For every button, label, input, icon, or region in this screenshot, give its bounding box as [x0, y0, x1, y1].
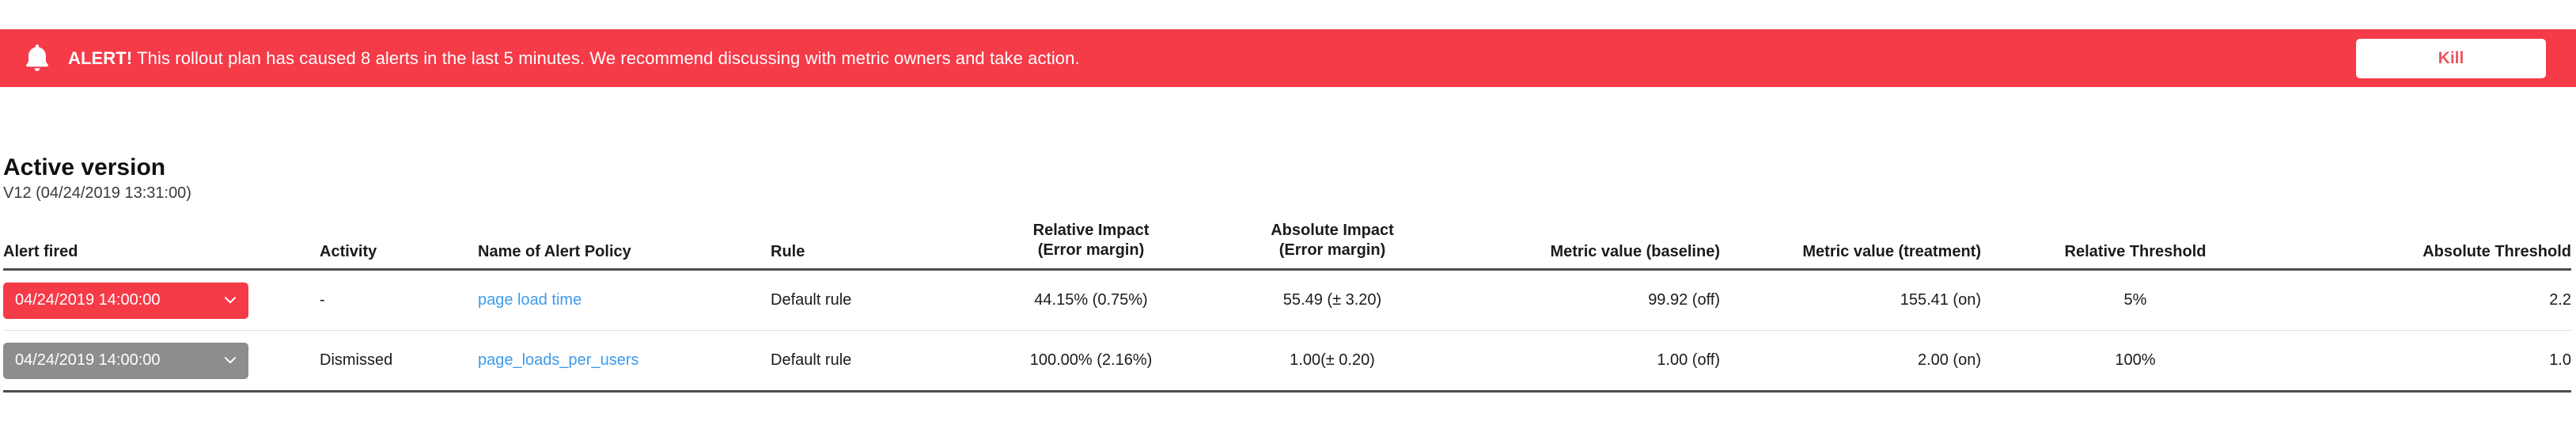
cell-rule: Default rule: [771, 270, 968, 331]
policy-link[interactable]: page_loads_per_users: [478, 351, 639, 369]
alert-fired-value: 04/24/2019 14:00:00: [15, 291, 161, 309]
table-header: Alert fired Activity Name of Alert Polic…: [3, 207, 2571, 270]
version-subtitle: V12 (04/24/2019 13:31:00): [3, 184, 191, 203]
heading-block: Active version V12 (04/24/2019 13:31:00): [3, 155, 191, 203]
table-row: 04/24/2019 14:00:00 Dismissed page_loads…: [3, 331, 2571, 392]
column-header-alert-fired: Alert fired: [3, 207, 320, 270]
column-header-rule: Rule: [771, 207, 968, 270]
cell-metric-baseline: 1.00 (off): [1451, 331, 1720, 392]
column-header-absolute-impact-line1: Absolute Impact: [1214, 221, 1451, 241]
chevron-down-icon: [225, 297, 236, 304]
cell-alert-fired: 04/24/2019 14:00:00: [3, 331, 320, 392]
table-body: 04/24/2019 14:00:00 - page load time Def…: [3, 270, 2571, 392]
cell-metric-treatment: 2.00 (on): [1720, 331, 1981, 392]
cell-absolute-impact: 55.49 (± 3.20): [1214, 270, 1451, 331]
column-header-relative-threshold: Relative Threshold: [1981, 207, 2290, 270]
cell-activity: Dismissed: [320, 331, 478, 392]
policy-link[interactable]: page load time: [478, 291, 581, 309]
bell-icon: [24, 44, 51, 74]
alert-message: ALERT! This rollout plan has caused 8 al…: [68, 50, 1080, 67]
column-header-absolute-impact-line2: (Error margin): [1214, 241, 1451, 261]
column-header-activity: Activity: [320, 207, 478, 270]
column-header-absolute-impact: Absolute Impact (Error margin): [1214, 207, 1451, 270]
cell-policy: page load time: [478, 270, 771, 331]
cell-activity: -: [320, 270, 478, 331]
column-header-relative-impact-line2: (Error margin): [968, 241, 1214, 261]
cell-relative-impact: 44.15% (0.75%): [968, 270, 1214, 331]
cell-metric-treatment: 155.41 (on): [1720, 270, 1981, 331]
column-header-metric-baseline: Metric value (baseline): [1451, 207, 1720, 270]
cell-absolute-impact: 1.00(± 0.20): [1214, 331, 1451, 392]
cell-relative-threshold: 5%: [1981, 270, 2290, 331]
table-header-row: Alert fired Activity Name of Alert Polic…: [3, 207, 2571, 270]
alert-fired-value: 04/24/2019 14:00:00: [15, 351, 161, 370]
alerts-table: Alert fired Activity Name of Alert Polic…: [3, 207, 2571, 393]
cell-relative-impact: 100.00% (2.16%): [968, 331, 1214, 392]
cell-absolute-threshold: 2.2: [2290, 270, 2571, 331]
column-header-absolute-threshold: Absolute Threshold: [2290, 207, 2571, 270]
cell-rule: Default rule: [771, 331, 968, 392]
cell-metric-baseline: 99.92 (off): [1451, 270, 1720, 331]
column-header-metric-treatment: Metric value (treatment): [1720, 207, 1981, 270]
column-header-relative-impact-line1: Relative Impact: [968, 221, 1214, 241]
cell-policy: page_loads_per_users: [478, 331, 771, 392]
column-header-policy-name: Name of Alert Policy: [478, 207, 771, 270]
cell-alert-fired: 04/24/2019 14:00:00: [3, 270, 320, 331]
cell-absolute-threshold: 1.0: [2290, 331, 2571, 392]
alert-fired-dropdown[interactable]: 04/24/2019 14:00:00: [3, 283, 248, 319]
chevron-down-icon: [225, 357, 236, 364]
alert-banner: ALERT! This rollout plan has caused 8 al…: [0, 29, 2576, 87]
table-row: 04/24/2019 14:00:00 - page load time Def…: [3, 270, 2571, 331]
alert-fired-dropdown[interactable]: 04/24/2019 14:00:00: [3, 343, 248, 379]
cell-relative-threshold: 100%: [1981, 331, 2290, 392]
alert-message-text: This rollout plan has caused 8 alerts in…: [137, 48, 1080, 68]
alerts-page: ALERT! This rollout plan has caused 8 al…: [0, 0, 2576, 421]
column-header-relative-impact: Relative Impact (Error margin): [968, 207, 1214, 270]
kill-button[interactable]: Kill: [2356, 39, 2546, 78]
page-title: Active version: [3, 155, 191, 180]
alert-label: ALERT!: [68, 48, 132, 68]
